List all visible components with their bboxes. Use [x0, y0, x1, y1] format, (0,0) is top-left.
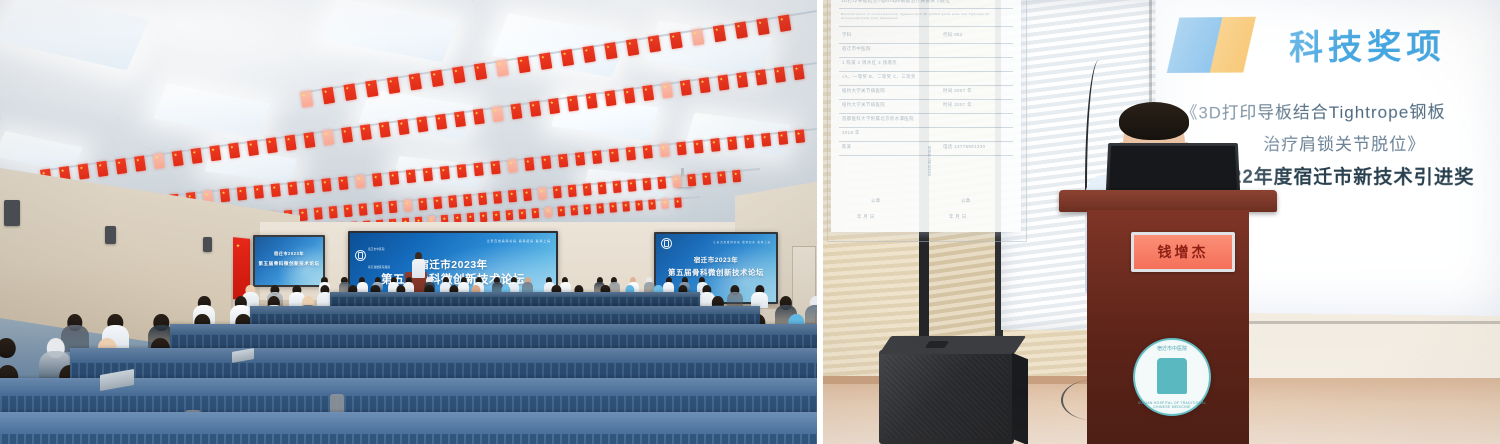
flag-star-icon: ★ [628, 41, 631, 44]
chinese-flag-icon: ★ [78, 163, 90, 179]
flag-star-icon: ★ [465, 196, 468, 199]
flag-star-icon: ★ [389, 79, 392, 82]
chinese-flag-icon: ★ [626, 39, 639, 57]
doc-rule [839, 8, 1013, 9]
audience-member [751, 285, 768, 308]
chinese-flag-icon: ★ [517, 56, 530, 74]
flag-star-icon: ★ [700, 79, 703, 82]
flag-star-icon: ★ [497, 62, 500, 65]
flag-star-icon: ★ [305, 134, 308, 137]
chinese-flag-icon: ★ [473, 108, 485, 124]
doc-footer-date-left: 年 月 日 [857, 214, 875, 220]
flag-star-icon: ★ [230, 145, 233, 148]
flag-star-icon: ★ [526, 159, 529, 162]
chinese-flag-icon: ★ [480, 212, 488, 223]
chinese-flag-icon: ★ [322, 87, 335, 105]
flag-star-icon: ★ [674, 177, 677, 180]
chinese-flag-icon: ★ [761, 133, 772, 147]
chinese-flag-icon: ★ [623, 88, 635, 104]
doc-row-label: 纽约大学关节病医院 [842, 88, 885, 94]
flag-star-icon: ★ [441, 168, 444, 171]
chinese-flag-icon: ★ [228, 142, 240, 158]
table-edge [0, 412, 817, 434]
flag-star-icon: ★ [682, 82, 685, 85]
chinese-flag-icon: ★ [115, 158, 127, 174]
flag-star-icon: ★ [625, 90, 628, 93]
flag-star-icon: ★ [249, 142, 252, 145]
chinese-flag-icon: ★ [732, 170, 741, 183]
chinese-flag-icon: ★ [717, 171, 726, 184]
flag-star-icon: ★ [494, 213, 497, 216]
flag-star-icon: ★ [614, 182, 617, 185]
chinese-flag-icon: ★ [592, 150, 603, 164]
chinese-flag-icon: ★ [568, 184, 577, 197]
chinese-flag-icon: ★ [642, 178, 651, 191]
chinese-flag-icon: ★ [648, 35, 661, 53]
chinese-flag-icon: ★ [661, 198, 669, 209]
chinese-flag-icon: ★ [544, 207, 552, 218]
chinese-flag-icon: ★ [403, 199, 412, 212]
flag-star-icon: ★ [719, 173, 722, 176]
chinese-flag-icon: ★ [430, 70, 443, 88]
flag-star-icon: ★ [255, 187, 258, 190]
flag-star-icon: ★ [693, 31, 696, 34]
chinese-flag-icon: ★ [672, 175, 681, 188]
chinese-flag-icon: ★ [300, 90, 313, 108]
flag-star-icon: ★ [289, 183, 292, 186]
chinese-flag-icon: ★ [508, 190, 517, 203]
doc-heading: 3D打印导板结合Tightrope钢板治疗肩锁关节脱位 [841, 0, 950, 4]
chinese-flag-icon: ★ [314, 207, 323, 220]
chinese-flag-icon: ★ [191, 148, 203, 164]
wall-speaker [203, 237, 212, 252]
flag-star-icon: ★ [729, 138, 732, 141]
chinese-flag-icon: ★ [778, 14, 791, 32]
flag-star-icon: ★ [546, 209, 549, 212]
doc-rule [839, 57, 1013, 58]
flag-star-icon: ★ [598, 205, 601, 208]
flag-star-icon: ★ [173, 153, 176, 156]
conference-hall-photo: ★★★★★★★★★★★★★★★★★★★★★★★★★★★★★★★★★★★★★★★★… [0, 0, 817, 444]
side-screen-title-line2: 第五届骨科微创新技术论坛 [656, 267, 776, 278]
flag-star-icon: ★ [345, 86, 348, 89]
flag-star-icon: ★ [302, 93, 305, 96]
chinese-flag-icon: ★ [493, 191, 502, 204]
doc-rule [839, 99, 1013, 100]
flag-star-icon: ★ [569, 186, 572, 189]
flag-star-icon: ★ [424, 170, 427, 173]
flag-star-icon: ★ [507, 212, 510, 215]
podium-top [1059, 190, 1277, 212]
chinese-flag-icon: ★ [452, 66, 465, 84]
flag-star-icon: ★ [695, 142, 698, 145]
flag-star-icon: ★ [671, 34, 674, 37]
emblem-bottom-text: SUQIAN HOSPITAL OF TRADITIONAL CHINESE M… [1135, 401, 1209, 409]
flag-star-icon: ★ [429, 217, 432, 220]
chinese-flag-icon: ★ [389, 171, 400, 185]
chinese-flag-icon: ★ [220, 188, 231, 202]
flag-star-icon: ★ [188, 194, 191, 197]
flag-star-icon: ★ [211, 147, 214, 150]
flag-star-icon: ★ [663, 85, 666, 88]
chinese-flag-icon: ★ [247, 140, 259, 156]
flag-star-icon: ★ [360, 205, 363, 208]
chinese-flag-icon: ★ [237, 187, 248, 201]
chinese-flag-icon: ★ [699, 77, 711, 93]
flag-star-icon: ★ [611, 204, 614, 207]
chinese-flag-icon: ★ [435, 114, 447, 130]
chinese-flag-icon: ★ [778, 131, 789, 145]
doc-subheading: Reconstruction of coracoclavicular ligam… [841, 12, 1013, 20]
chinese-flag-icon: ★ [626, 147, 637, 161]
chinese-flag-icon: ★ [710, 138, 721, 152]
chinese-flag-icon: ★ [172, 150, 184, 166]
flag-star-icon: ★ [399, 121, 402, 124]
flag-star-icon: ★ [650, 201, 653, 204]
chinese-flag-icon: ★ [379, 122, 391, 138]
screen-tagline: 让老百姓看得好病 看得起病 看得上病 [487, 239, 551, 243]
chinese-flag-icon: ★ [583, 183, 592, 196]
chinese-flag-icon: ★ [583, 204, 591, 215]
flag-star-icon: ★ [629, 181, 632, 184]
chinese-flag-icon: ★ [557, 206, 565, 217]
flag-star-icon: ★ [712, 140, 715, 143]
flag-star-icon: ★ [525, 190, 528, 193]
chinese-flag-icon: ★ [454, 111, 466, 127]
chinese-flag-icon: ★ [702, 172, 711, 185]
subwoofer-side [1012, 353, 1028, 444]
chinese-flag-icon: ★ [744, 135, 755, 149]
chinese-flag-icon: ★ [553, 186, 562, 199]
chinese-flag-icon: ★ [736, 72, 748, 88]
flag-star-icon: ★ [550, 100, 553, 103]
table-edge [170, 324, 817, 335]
doc-row-label: 纽约大学关节病医院 [842, 102, 885, 108]
chinese-flag-icon: ★ [433, 197, 442, 210]
flag-star-icon: ★ [599, 184, 602, 187]
table-edge [70, 348, 817, 363]
flag-star-icon: ★ [585, 206, 588, 209]
flag-star-icon: ★ [300, 210, 303, 213]
flag-star-icon: ★ [661, 145, 664, 148]
flag-star-icon: ★ [136, 158, 139, 161]
chinese-flag-icon: ★ [541, 155, 552, 169]
chinese-flag-icon: ★ [613, 180, 622, 193]
flag-star-icon: ★ [763, 135, 766, 138]
chinese-flag-icon: ★ [463, 194, 472, 207]
chinese-flag-icon: ★ [153, 153, 165, 169]
chinese-flag-icon: ★ [287, 181, 298, 195]
chinese-flag-icon: ★ [661, 82, 673, 98]
photo-collage: ★★★★★★★★★★★★★★★★★★★★★★★★★★★★★★★★★★★★★★★★… [0, 0, 1500, 444]
flag-star-icon: ★ [704, 174, 707, 177]
flag-star-icon: ★ [644, 180, 647, 183]
flag-star-icon: ★ [272, 185, 275, 188]
chinese-flag-icon: ★ [561, 49, 574, 67]
flag-star-icon: ★ [323, 180, 326, 183]
nameplate: 钱增杰 [1131, 232, 1235, 272]
flag-star-icon: ★ [481, 214, 484, 217]
flag-star-icon: ★ [380, 124, 383, 127]
flag-star-icon: ★ [627, 149, 630, 152]
doc-footer-left: 公章 [871, 198, 881, 204]
chinese-flag-icon: ★ [532, 208, 540, 219]
chinese-flag-icon: ★ [406, 169, 417, 183]
laptop [1106, 143, 1240, 194]
doc-row-label: 2018 年 [842, 130, 860, 136]
flag-star-icon: ★ [794, 66, 797, 69]
chinese-flag-icon: ★ [693, 140, 704, 154]
flag-star-icon: ★ [519, 58, 522, 61]
chinese-flag-icon: ★ [727, 136, 738, 150]
chinese-flag-icon: ★ [474, 162, 485, 176]
chinese-flag-icon: ★ [713, 25, 726, 43]
flag-star-icon: ★ [719, 77, 722, 80]
chinese-flag-icon: ★ [523, 188, 532, 201]
flag-star-icon: ★ [286, 137, 289, 140]
flag-star-icon: ★ [117, 160, 120, 163]
speaker-hair [1119, 102, 1189, 140]
chinese-flag-icon: ★ [440, 166, 451, 180]
flag-star-icon: ★ [734, 172, 737, 175]
wall-speaker [105, 226, 116, 244]
wall-speaker [4, 200, 20, 226]
hall-scene: ★★★★★★★★★★★★★★★★★★★★★★★★★★★★★★★★★★★★★★★★… [0, 0, 817, 444]
chinese-flag-icon: ★ [343, 83, 356, 101]
flag-star-icon: ★ [61, 168, 64, 171]
flag-star-icon: ★ [357, 177, 360, 180]
chinese-flag-icon: ★ [448, 195, 457, 208]
flag-star-icon: ★ [475, 164, 478, 167]
doc-rule [839, 43, 1013, 44]
doc-rule [839, 85, 1013, 86]
flag-star-icon: ★ [458, 166, 461, 169]
hospital-logo [661, 238, 672, 249]
doc-footer-date-right: 年 月 日 [949, 214, 967, 220]
flag-star-icon: ★ [676, 199, 679, 202]
nameplate-text: 钱增杰 [1158, 242, 1209, 262]
chinese-flag-icon: ★ [524, 157, 535, 171]
flag-star-icon: ★ [390, 202, 393, 205]
chinese-flag-icon: ★ [299, 209, 308, 222]
doc-row-label: 1 陈某 2 周水红 3 钱增杰 [842, 60, 897, 66]
flag-star-icon: ★ [221, 190, 224, 193]
flag-star-icon: ★ [98, 163, 101, 166]
flag-star-icon: ★ [572, 207, 575, 210]
flag-star-icon: ★ [796, 131, 799, 134]
presenter [412, 252, 425, 278]
chinese-flag-icon: ★ [409, 73, 422, 91]
chinese-flag-icon: ★ [506, 210, 514, 221]
chinese-flag-icon: ★ [627, 179, 636, 192]
chinese-flag-icon: ★ [285, 135, 297, 151]
flag-star-icon: ★ [637, 202, 640, 205]
doc-row-value: 时间 2007 年 [943, 88, 972, 94]
chinese-flag-icon: ★ [329, 206, 338, 219]
flag-star-icon: ★ [663, 200, 666, 203]
chinese-flag-icon: ★ [360, 124, 372, 140]
subwoofer-grille [885, 356, 1008, 438]
doc-footer-right: 公章 [961, 198, 971, 204]
audience-member [522, 277, 533, 293]
flag-star-icon: ★ [391, 173, 394, 176]
flag-star-icon: ★ [624, 203, 627, 206]
flag-star-icon: ★ [493, 108, 496, 111]
flag-star-icon: ★ [238, 189, 241, 192]
chinese-flag-icon: ★ [416, 116, 428, 132]
flag-star-icon: ★ [375, 204, 378, 207]
chinese-flag-icon: ★ [510, 103, 522, 119]
flag-star-icon: ★ [475, 111, 478, 114]
chinese-flag-icon: ★ [669, 32, 682, 50]
flag-star-icon: ★ [659, 178, 662, 181]
chinese-flag-icon: ★ [134, 156, 146, 172]
doc-row-label: 首都医科大学附属北京积水潭医院 [842, 116, 914, 122]
chinese-flag-icon: ★ [372, 173, 383, 187]
doc-rule [839, 141, 1013, 142]
flag-star-icon: ★ [454, 69, 457, 72]
flag-star-icon: ★ [510, 192, 513, 195]
flag-star-icon: ★ [678, 143, 681, 146]
hospital-emblem-icon [661, 238, 672, 249]
flag-star-icon: ★ [343, 129, 346, 132]
chinese-flag-icon: ★ [756, 18, 769, 36]
flag-star-icon: ★ [408, 171, 411, 174]
chinese-flag-icon: ★ [774, 67, 786, 83]
chinese-flag-icon: ★ [586, 93, 598, 109]
flag-star-icon: ★ [315, 209, 318, 212]
flag-star-icon: ★ [780, 17, 783, 20]
flag-star-icon: ★ [437, 116, 440, 119]
chinese-flag-icon: ★ [209, 145, 221, 161]
flag-star-icon: ★ [480, 194, 483, 197]
chinese-flag-icon: ★ [519, 209, 527, 220]
chinese-flag-icon: ★ [474, 63, 487, 81]
audience-seating [0, 290, 817, 444]
speaker-podium-photo: 3D打印导板结合Tightrope钢板治疗肩锁关节脱位 Reconstructi… [823, 0, 1500, 444]
flag-star-icon: ★ [324, 132, 327, 135]
chinese-flag-icon: ★ [642, 85, 654, 101]
chinese-flag-icon: ★ [609, 202, 617, 213]
flag-star-icon: ★ [758, 20, 761, 23]
far-projection-screen: 宿迁市2023年 第五届骨科微创新技术论坛 [253, 235, 325, 287]
subwoofer-speaker [879, 350, 1014, 444]
flag-star-icon: ★ [330, 208, 333, 211]
doc-row-value: 代码 052 [943, 32, 963, 38]
flag-star-icon: ★ [450, 197, 453, 200]
chinese-flag-icon: ★ [254, 185, 265, 199]
chinese-flag-icon: ★ [643, 145, 654, 159]
flag-star-icon: ★ [736, 24, 739, 27]
table-skirt [0, 434, 817, 444]
chinese-flag-icon: ★ [387, 76, 400, 94]
chinese-flag-icon: ★ [755, 69, 767, 85]
flag-star-icon: ★ [594, 152, 597, 155]
flag-star-icon: ★ [455, 215, 458, 218]
room-scene: 3D打印导板结合Tightrope钢板治疗肩锁关节脱位 Reconstructi… [823, 0, 1500, 444]
flag-star-icon: ★ [569, 98, 572, 101]
document-display-screen: 3D打印导板结合Tightrope钢板治疗肩锁关节脱位 Reconstructi… [831, 0, 1021, 232]
chinese-flag-icon: ★ [735, 21, 748, 39]
flag-star-icon: ★ [456, 113, 459, 116]
far-screen-title-line2: 第五届骨科微创新技术论坛 [255, 261, 323, 267]
chinese-flag-icon: ★ [687, 174, 696, 187]
chinese-flag-icon: ★ [478, 192, 487, 205]
flag-star-icon: ★ [587, 95, 590, 98]
chinese-flag-icon: ★ [303, 132, 315, 148]
chinese-flag-icon: ★ [676, 142, 687, 156]
flag-star-icon: ★ [509, 161, 512, 164]
flag-star-icon: ★ [533, 210, 536, 213]
chinese-flag-icon: ★ [596, 203, 604, 214]
podium: 钱增杰 宿迁市中医院 SUQIAN HOSPITAL OF TRADITIONA… [1073, 190, 1263, 444]
flag-star-icon: ★ [476, 65, 479, 68]
chinese-flag-icon: ★ [365, 80, 378, 98]
doc-row-label: 陈某 [842, 144, 852, 150]
flag-star-icon: ★ [562, 51, 565, 54]
flag-star-icon: ★ [420, 200, 423, 203]
chinese-flag-icon: ★ [582, 45, 595, 63]
chinese-flag-icon: ★ [548, 98, 560, 114]
podium-emblem-icon: 宿迁市中医院 SUQIAN HOSPITAL OF TRADITIONAL CH… [1133, 338, 1211, 416]
chinese-flag-icon: ★ [538, 187, 547, 200]
flag-star-icon: ★ [418, 119, 421, 122]
flag-star-icon: ★ [468, 214, 471, 217]
chinese-flag-icon: ★ [598, 182, 607, 195]
chinese-flag-icon: ★ [355, 175, 366, 189]
flag-star-icon: ★ [492, 163, 495, 166]
flag-star-icon: ★ [539, 189, 542, 192]
chinese-flag-icon: ★ [622, 201, 630, 212]
flag-star-icon: ★ [340, 178, 343, 181]
flag-star-icon: ★ [374, 175, 377, 178]
chinese-flag-icon: ★ [492, 106, 504, 122]
chinese-flag-icon: ★ [374, 202, 383, 215]
podium-body: 钱增杰 宿迁市中医院 SUQIAN HOSPITAL OF TRADITIONA… [1087, 210, 1249, 444]
flag-star-icon: ★ [362, 126, 365, 129]
chinese-flag-icon: ★ [660, 143, 671, 157]
doc-rule [839, 127, 1013, 128]
presenter-body [412, 259, 425, 278]
flag-star-icon: ★ [584, 48, 587, 51]
chinese-flag-icon: ★ [717, 74, 729, 90]
audience-member [727, 285, 744, 308]
flag-star-icon: ★ [435, 198, 438, 201]
chinese-flag-icon: ★ [575, 152, 586, 166]
flag-star-icon: ★ [520, 211, 523, 214]
emblem-top-text: 宿迁市中医院 [1135, 345, 1209, 352]
flag-star-icon: ★ [689, 176, 692, 179]
flag-star-icon: ★ [306, 182, 309, 185]
chinese-flag-icon: ★ [570, 205, 578, 216]
flag-star-icon: ★ [644, 87, 647, 90]
chinese-flag-icon: ★ [493, 211, 501, 222]
flag-star-icon: ★ [715, 27, 718, 30]
doc-row-value: 电话 13775991330 [943, 144, 985, 150]
chinese-flag-icon: ★ [457, 164, 468, 178]
chinese-flag-icon: ★ [304, 180, 315, 194]
chinese-flag-icon: ★ [398, 119, 410, 135]
flag-star-icon: ★ [606, 45, 609, 48]
chinese-flag-icon: ★ [604, 42, 617, 60]
doc-row-value: 时间 2007 年 [943, 102, 972, 108]
chinese-flag-icon: ★ [680, 80, 692, 96]
chinese-flag-icon: ★ [388, 201, 397, 214]
chinese-flag-icon: ★ [635, 200, 643, 211]
chinese-flag-icon: ★ [321, 178, 332, 192]
chinese-flag-icon: ★ [558, 154, 569, 168]
chinese-flag-icon: ★ [507, 159, 518, 173]
